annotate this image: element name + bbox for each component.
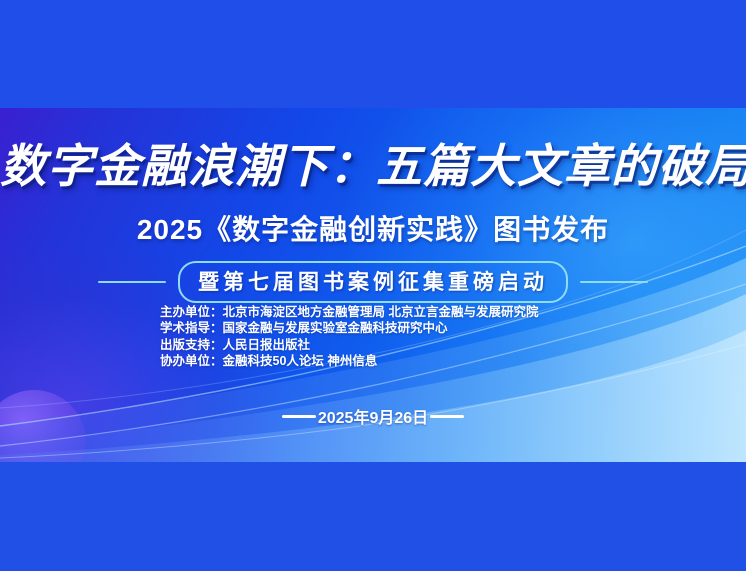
info-line-publishing-support: 出版支持：人民日报出版社 (160, 337, 630, 353)
launch-banner: 暨第七届图书案例征集重磅启动 (0, 261, 746, 303)
info-line-co-organizer: 协办单位：金融科技50人论坛 神州信息 (160, 353, 630, 369)
banner-rule-right (580, 281, 648, 283)
info-value-host: 北京市海淀区地方金融管理局 北京立言金融与发展研究院 (223, 305, 539, 319)
info-line-academic-guidance: 学术指导：国家金融与发展实验室金融科技研究中心 (160, 320, 630, 336)
info-label-co-organizer: 协办单位： (160, 354, 223, 368)
info-line-host: 主办单位：北京市海淀区地方金融管理局 北京立言金融与发展研究院 (160, 304, 630, 320)
poster-subtitle: 2025《数字金融创新实践》图书发布 (0, 208, 746, 248)
background-bottom-band (0, 462, 746, 571)
poster-content: 数字金融浪潮下：五篇大文章的破局与重构 2025《数字金融创新实践》图书发布 暨… (0, 108, 746, 462)
info-value-publishing-support: 人民日报出版社 (223, 338, 311, 352)
event-poster: 数字金融浪潮下：五篇大文章的破局与重构 2025《数字金融创新实践》图书发布 暨… (0, 108, 746, 462)
banner-rule-left (98, 281, 166, 283)
launch-badge: 暨第七届图书案例征集重磅启动 (178, 261, 568, 303)
screenshot-root: 数字金融浪潮下：五篇大文章的破局与重构 2025《数字金融创新实践》图书发布 暨… (0, 0, 746, 571)
organizer-info-block: 主办单位：北京市海淀区地方金融管理局 北京立言金融与发展研究院 学术指导：国家金… (160, 304, 630, 370)
event-date-row: 2025年9月26日 (0, 404, 746, 428)
date-rule-left (282, 415, 316, 418)
date-rule-right (430, 415, 464, 418)
info-label-academic-guidance: 学术指导： (160, 321, 223, 335)
info-label-host: 主办单位： (160, 305, 223, 319)
page-title: 数字金融浪潮下：五篇大文章的破局与重构 (0, 130, 746, 196)
background-top-band (0, 0, 746, 108)
info-value-academic-guidance: 国家金融与发展实验室金融科技研究中心 (223, 321, 448, 335)
info-value-co-organizer: 金融科技50人论坛 神州信息 (223, 354, 378, 368)
info-label-publishing-support: 出版支持： (160, 338, 223, 352)
event-date: 2025年9月26日 (318, 404, 428, 428)
